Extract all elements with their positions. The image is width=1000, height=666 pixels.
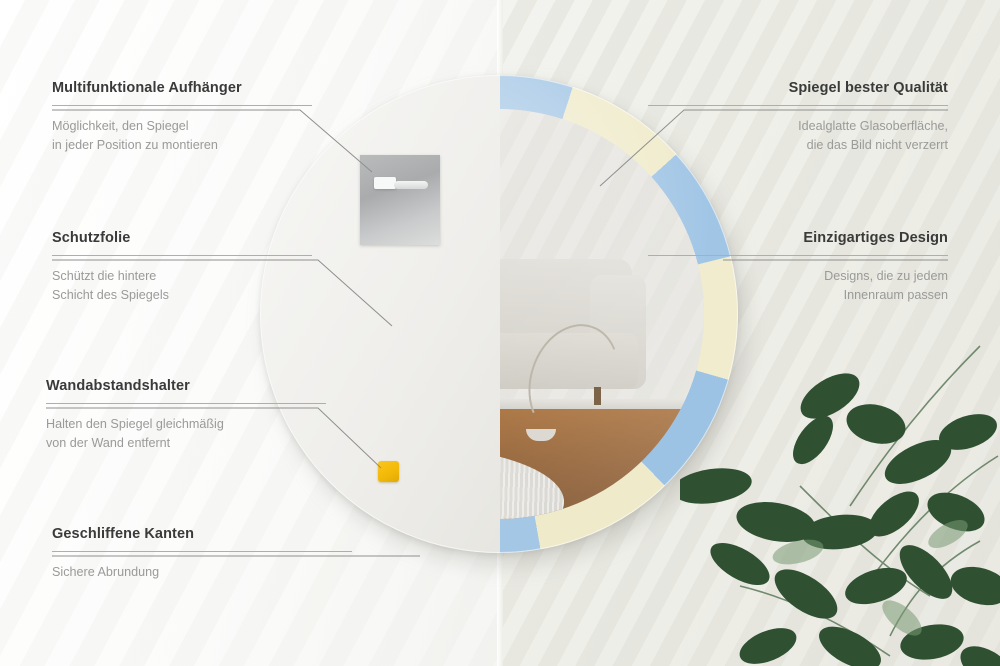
callout-rule xyxy=(52,551,352,552)
callout-spiegel-bester-qualitaet: Spiegel bester Qualität Idealglatte Glas… xyxy=(648,80,948,154)
callout-description: Designs, die zu jedem Innenraum passen xyxy=(648,267,948,304)
callout-rule xyxy=(46,403,326,404)
callout-schutzfolie: Schutzfolie Schützt die hintere Schicht … xyxy=(52,230,312,304)
callout-description: Idealglatte Glasoberfläche, die das Bild… xyxy=(648,117,948,154)
callout-geschliffene-kanten: Geschliffene Kanten Sichere Abrundung xyxy=(52,526,352,582)
hanger-keyhole-icon xyxy=(374,177,396,189)
callout-rule xyxy=(648,105,948,106)
callout-multifunktionale-aufhaenger: Multifunktionale Aufhänger Möglichkeit, … xyxy=(52,80,312,154)
hanger-plate-detail xyxy=(360,155,440,245)
hanger-bar-icon xyxy=(394,181,428,189)
callout-rule xyxy=(52,105,312,106)
callout-title: Multifunktionale Aufhänger xyxy=(52,80,312,96)
wall-spacer-detail xyxy=(378,461,399,482)
callout-wandabstandshalter: Wandabstandshalter Halten den Spiegel gl… xyxy=(46,378,326,452)
infographic-canvas: Multifunktionale Aufhänger Möglichkeit, … xyxy=(0,0,1000,666)
callout-title: Schutzfolie xyxy=(52,230,312,246)
callout-description: Schützt die hintere Schicht des Spiegels xyxy=(52,267,312,304)
callout-title: Wandabstandshalter xyxy=(46,378,326,394)
callout-description: Möglichkeit, den Spiegel in jeder Positi… xyxy=(52,117,312,154)
callout-rule xyxy=(52,255,312,256)
callout-title: Geschliffene Kanten xyxy=(52,526,352,542)
callout-description: Halten den Spiegel gleichmäßig von der W… xyxy=(46,415,326,452)
callout-rule xyxy=(648,255,948,256)
callout-description: Sichere Abrundung xyxy=(52,563,352,582)
callout-einzigartiges-design: Einzigartiges Design Designs, die zu jed… xyxy=(648,230,948,304)
callout-title: Spiegel bester Qualität xyxy=(648,80,948,96)
callout-title: Einzigartiges Design xyxy=(648,230,948,246)
